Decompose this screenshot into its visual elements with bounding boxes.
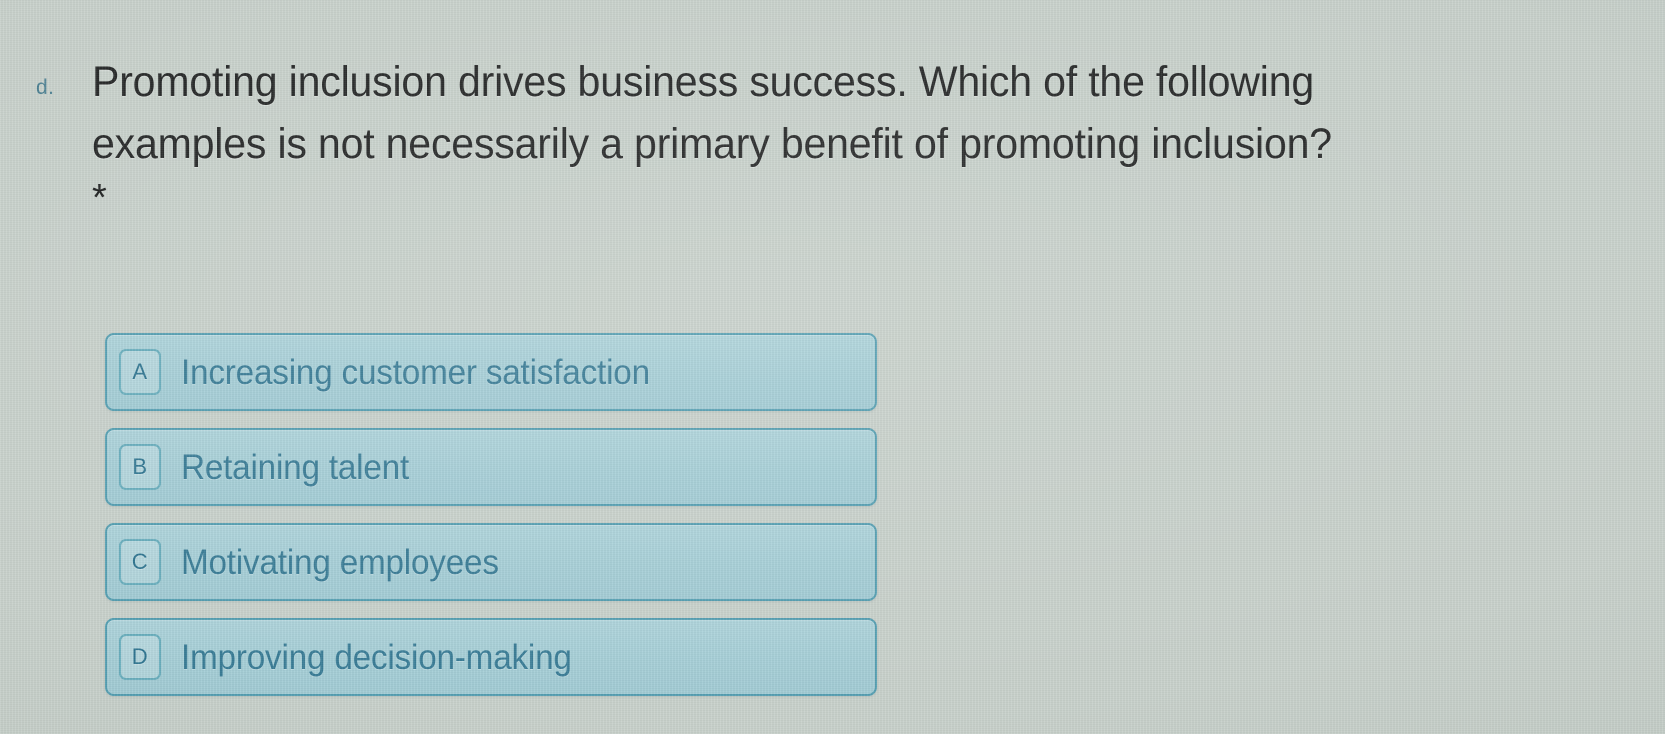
answer-option-d[interactable]: D Improving decision-making (105, 618, 877, 696)
question-text: Promoting inclusion drives business succ… (92, 52, 1471, 176)
answer-option-c[interactable]: C Motivating employees (105, 523, 877, 601)
option-letter-c: C (132, 551, 148, 573)
option-label-c: Motivating employees (181, 545, 499, 580)
option-letter-d: D (132, 646, 148, 668)
option-letter-b: B (132, 456, 147, 478)
answer-options-list: A Increasing customer satisfaction B Ret… (105, 333, 877, 713)
option-letter-a: A (132, 361, 147, 383)
question-marker: d. (36, 52, 92, 98)
option-letter-badge-a: A (119, 349, 161, 395)
option-letter-badge-b: B (119, 444, 161, 490)
option-label-b: Retaining talent (181, 450, 409, 485)
option-letter-badge-c: C (119, 539, 161, 585)
option-letter-badge-d: D (119, 634, 161, 680)
required-asterisk: * (92, 178, 1536, 220)
option-label-a: Increasing customer satisfaction (181, 355, 650, 390)
answer-option-a[interactable]: A Increasing customer satisfaction (105, 333, 877, 411)
answer-option-b[interactable]: B Retaining talent (105, 428, 877, 506)
question-block: d. Promoting inclusion drives business s… (36, 52, 1536, 220)
option-label-d: Improving decision-making (181, 640, 572, 675)
